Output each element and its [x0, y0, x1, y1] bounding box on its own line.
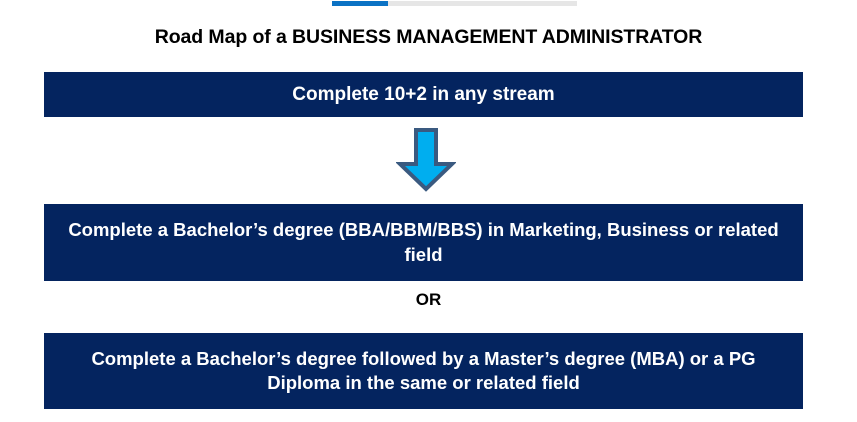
flow-step-label-2: Complete a Bachelor’s degree (BBA/BBM/BB… [58, 218, 789, 267]
flow-connector-arrow [396, 128, 456, 192]
progress-bar [0, 0, 857, 8]
flow-connector-or-label: OR [0, 290, 857, 310]
progress-bar-fill [332, 1, 388, 6]
down-arrow-icon [396, 128, 456, 192]
flow-step-label-3: Complete a Bachelor’s degree followed by… [58, 347, 789, 396]
flow-step-box-3: Complete a Bachelor’s degree followed by… [44, 333, 803, 409]
flow-step-box-1: Complete 10+2 in any stream [44, 72, 803, 117]
page-title: Road Map of a BUSINESS MANAGEMENT ADMINI… [0, 26, 857, 49]
flow-step-box-2: Complete a Bachelor’s degree (BBA/BBM/BB… [44, 204, 803, 281]
flow-step-label-1: Complete 10+2 in any stream [58, 82, 789, 107]
